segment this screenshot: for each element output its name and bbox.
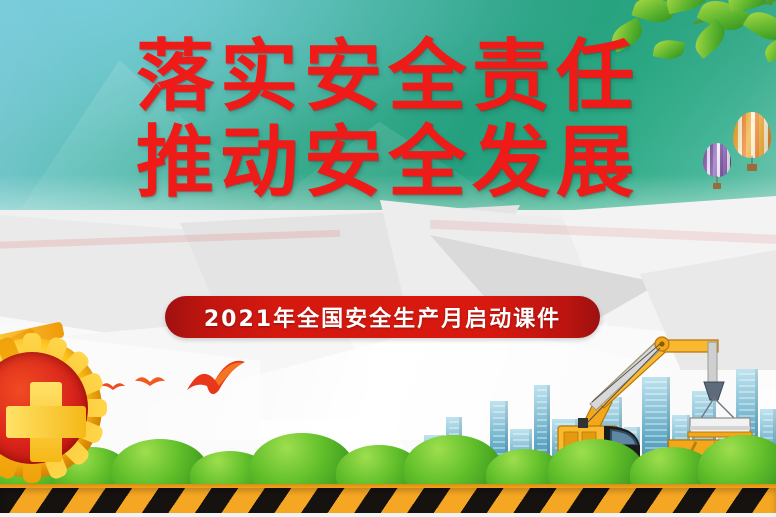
subtitle-banner-label: 2021年全国安全生产月启动课件 bbox=[204, 301, 561, 333]
hazard-stripe-top-edge bbox=[0, 484, 776, 488]
flying-bird-icon-3 bbox=[185, 356, 247, 402]
flying-bird-icon-2 bbox=[134, 372, 166, 390]
cross-horizontal-bar bbox=[6, 406, 86, 438]
title-line-2: 推动安全发展 bbox=[0, 120, 776, 206]
green-bushes-icon bbox=[0, 417, 776, 491]
safety-production-month-poster: 落实安全责任 推动安全发展 2021年全国安全生产月启动课件 bbox=[0, 0, 776, 517]
safety-cross-gear-emblem-icon bbox=[0, 338, 102, 483]
subtitle-banner: 2021年全国安全生产月启动课件 bbox=[165, 296, 600, 338]
hazard-stripe-bottom-edge bbox=[0, 513, 776, 517]
poster-title: 落实安全责任 推动安全发展 bbox=[0, 34, 776, 206]
gear-shape bbox=[0, 338, 102, 478]
flying-birds-icon bbox=[100, 378, 126, 394]
title-line-1: 落实安全责任 bbox=[0, 34, 776, 120]
